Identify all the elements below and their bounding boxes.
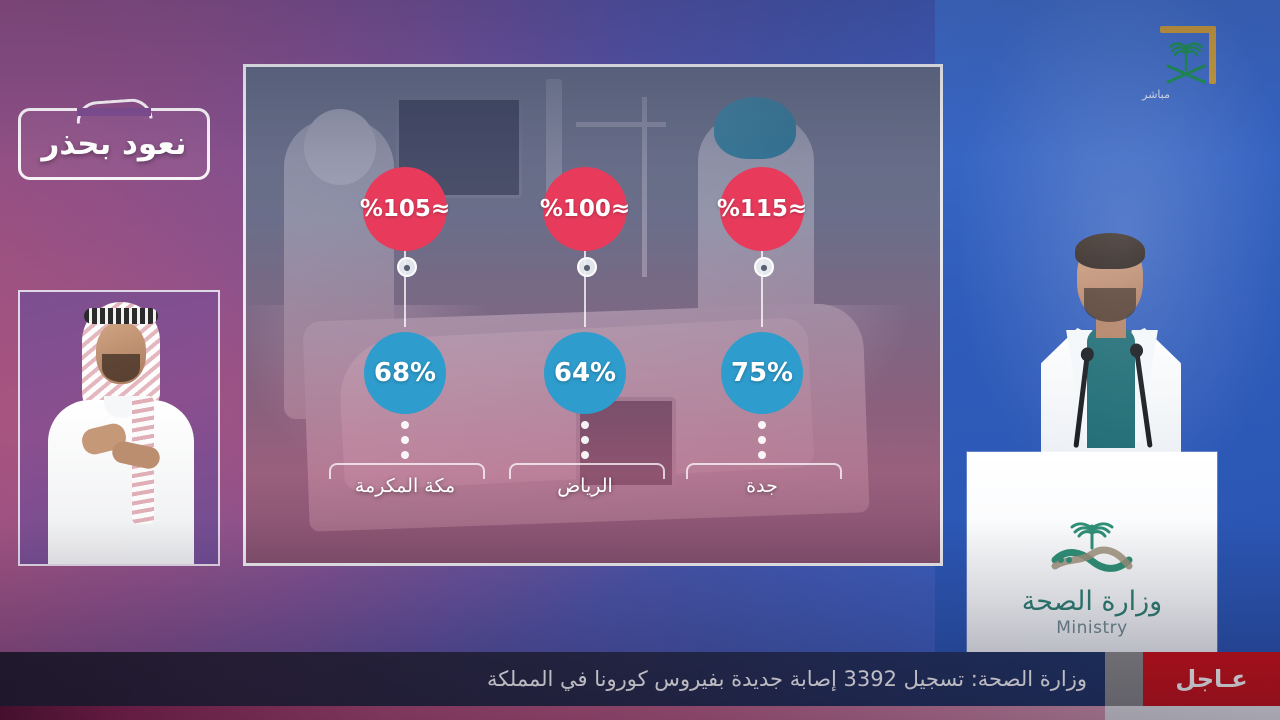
scrub-shirt — [1087, 328, 1135, 448]
microphone-right — [1134, 352, 1152, 448]
sign-language-inset — [18, 290, 220, 566]
ticker-headline: وزارة الصحة: تسجيل 3392 إصابة جديدة بفير… — [487, 667, 1105, 691]
campaign-slogan-badge: نعود بحذر — [18, 108, 210, 180]
ticker-separator — [1105, 652, 1143, 706]
ministry-name-arabic: وزارة الصحة — [1002, 586, 1182, 617]
neck — [1096, 312, 1126, 338]
blue-metric-bubble-jeddah: 75% — [721, 332, 803, 414]
city-label-jeddah: جدة — [686, 475, 838, 497]
ministry-of-health-logo: وزارة الصحة Ministry — [1002, 514, 1182, 638]
channel-logo-icon — [1156, 22, 1220, 86]
interpreter-beard — [102, 354, 140, 382]
node-knob-makkah: ● — [397, 257, 417, 277]
blue-metric-bubble-makkah: 68% — [364, 332, 446, 414]
live-indicator-label: مباشر — [1100, 88, 1170, 101]
interpreter-thobe — [48, 400, 194, 566]
red-metric-bubble-jeddah: %115≈ — [720, 167, 804, 251]
city-label-makkah: مكة المكرمة — [329, 475, 481, 497]
podium-edge — [967, 452, 1217, 458]
blue-metric-bubble-riyadh: 64% — [544, 332, 626, 414]
infographic-panel: %105≈ ● 68% مكة المكرمة %100≈ ● 64% الري… — [243, 64, 943, 566]
hair — [1075, 233, 1145, 269]
breaking-news-label: عـاجل — [1175, 665, 1247, 693]
coat-lapel-right — [1114, 330, 1158, 442]
slogan-notch-mask — [77, 108, 151, 116]
dotted-connector-jeddah — [758, 421, 766, 459]
moh-palm-icon — [1037, 514, 1147, 580]
dotted-connector-riyadh — [581, 421, 589, 459]
city-label-riyadh: الرياض — [509, 475, 661, 497]
podium: وزارة الصحة Ministry — [967, 452, 1217, 668]
ministry-name-english: Ministry — [1002, 618, 1182, 638]
node-knob-jeddah: ● — [754, 257, 774, 277]
head — [1077, 236, 1143, 320]
dotted-connector-makkah — [401, 421, 409, 459]
spokesperson-figure — [1031, 236, 1191, 486]
red-metric-bubble-riyadh: %100≈ — [543, 167, 627, 251]
red-metric-bubble-makkah: %105≈ — [363, 167, 447, 251]
node-knob-riyadh: ● — [577, 257, 597, 277]
news-ticker: وزارة الصحة: تسجيل 3392 إصابة جديدة بفير… — [0, 652, 1280, 706]
interpreter-igal — [84, 308, 158, 324]
palm-swords-icon — [1162, 34, 1212, 86]
breaking-news-badge: عـاجل — [1143, 652, 1280, 706]
microphone-left — [1073, 356, 1089, 448]
beard — [1084, 288, 1136, 322]
slogan-text: نعود بحذر — [41, 126, 186, 162]
logo-bar-horizontal — [1160, 26, 1216, 33]
ticker-body: وزارة الصحة: تسجيل 3392 إصابة جديدة بفير… — [0, 652, 1105, 706]
bottom-accent-strip — [0, 706, 1280, 720]
coat-lapel-left — [1066, 330, 1110, 442]
broadcast-screen: وزارة الصحة Ministry %105≈ ● 68% — [0, 0, 1280, 720]
